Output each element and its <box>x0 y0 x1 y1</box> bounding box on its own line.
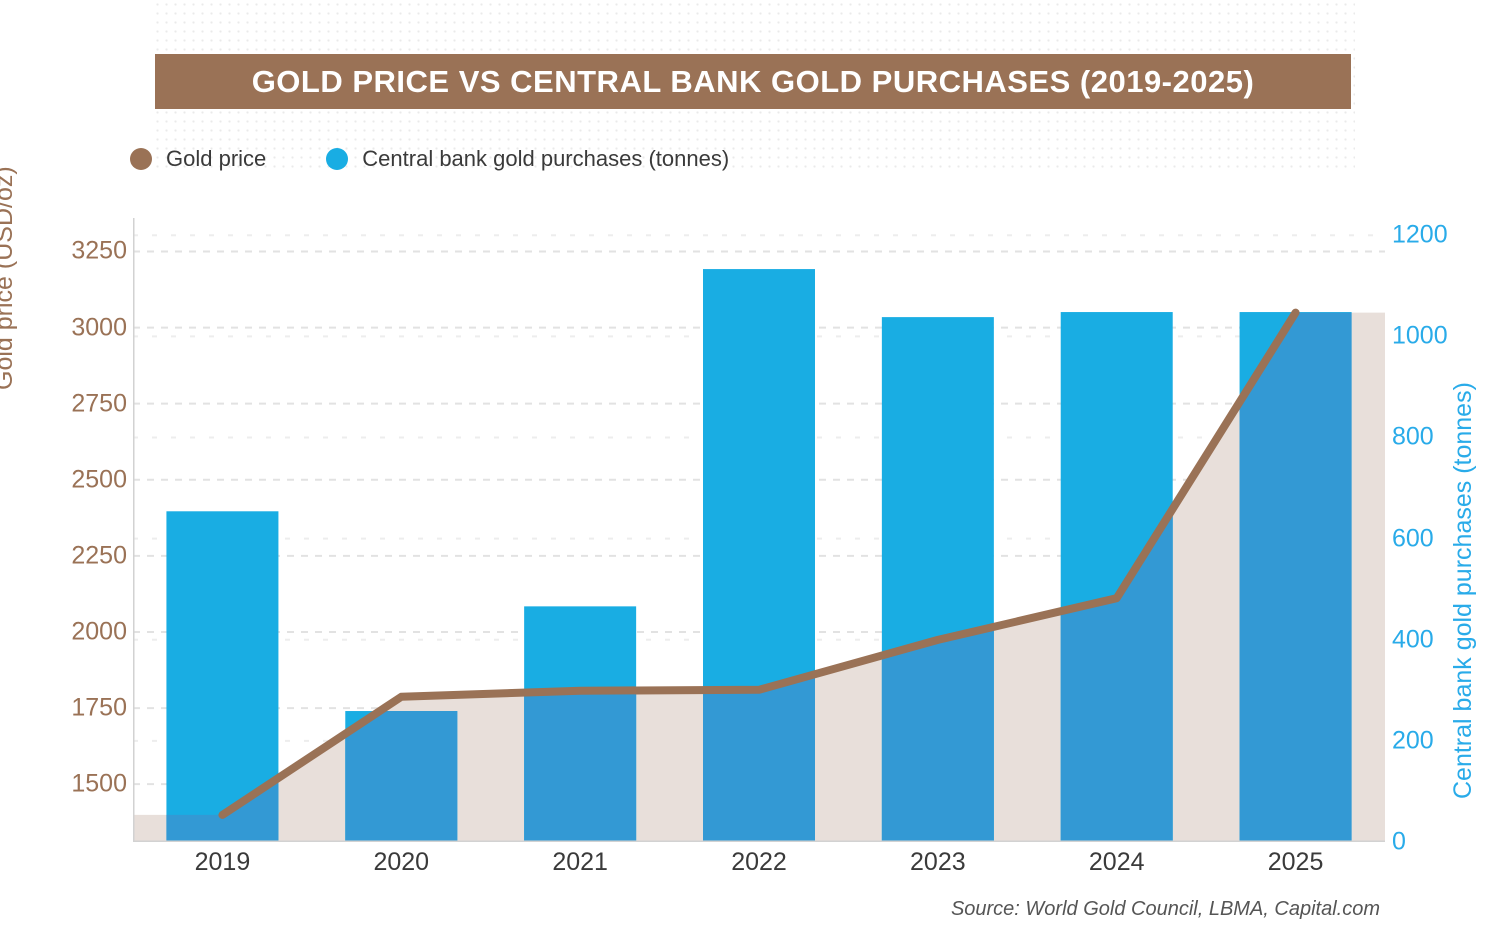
x-axis-tick-2021: 2021 <box>552 848 608 877</box>
background-white-panel-left <box>0 0 150 200</box>
x-axis-tick-2025: 2025 <box>1268 848 1324 877</box>
x-axis-tick-2023: 2023 <box>910 848 966 877</box>
x-axis-tick-2022: 2022 <box>731 848 787 877</box>
left-axis-ticks: 15001750200022502500275030003250 <box>0 218 127 842</box>
legend-item-0[interactable]: Gold price <box>130 146 266 172</box>
page-title: GOLD PRICE VS CENTRAL BANK GOLD PURCHASE… <box>252 64 1255 100</box>
legend-label: Gold price <box>166 146 266 172</box>
left-axis-tick-1500: 1500 <box>71 770 127 799</box>
source-note: Source: World Gold Council, LBMA, Capita… <box>951 898 1380 921</box>
right-axis-tick-400: 400 <box>1392 625 1434 654</box>
left-axis-tick-2750: 2750 <box>71 389 127 418</box>
right-axis-tick-600: 600 <box>1392 524 1434 553</box>
right-axis-tick-0: 0 <box>1392 828 1406 857</box>
left-axis-tick-1750: 1750 <box>71 694 127 723</box>
left-axis-title: Gold price (USD/oz) <box>0 166 19 390</box>
left-axis-tick-3000: 3000 <box>71 313 127 342</box>
x-axis-tick-2019: 2019 <box>195 848 251 877</box>
chart-legend: Gold priceCentral bank gold purchases (t… <box>130 142 789 176</box>
legend-dot-icon <box>326 148 348 170</box>
right-axis-tick-1000: 1000 <box>1392 322 1448 351</box>
background-white-panel-right <box>1355 0 1500 200</box>
right-axis-tick-800: 800 <box>1392 423 1434 452</box>
left-axis-tick-3250: 3250 <box>71 237 127 266</box>
chart-svg <box>133 218 1385 842</box>
left-axis-tick-2250: 2250 <box>71 541 127 570</box>
x-axis-ticks: 2019202020212022202320242025 <box>133 848 1385 888</box>
right-axis-tick-1200: 1200 <box>1392 221 1448 250</box>
chart-title-banner: GOLD PRICE VS CENTRAL BANK GOLD PURCHASE… <box>155 54 1351 109</box>
legend-item-1[interactable]: Central bank gold purchases (tonnes) <box>326 146 729 172</box>
left-axis-tick-2000: 2000 <box>71 617 127 646</box>
chart-plot-area <box>133 218 1385 842</box>
right-axis-title: Central bank gold purchases (tonnes) <box>1449 382 1478 799</box>
x-axis-tick-2020: 2020 <box>373 848 429 877</box>
right-axis-tick-200: 200 <box>1392 726 1434 755</box>
legend-label: Central bank gold purchases (tonnes) <box>362 146 729 172</box>
left-axis-tick-2500: 2500 <box>71 465 127 494</box>
legend-dot-icon <box>130 148 152 170</box>
x-axis-tick-2024: 2024 <box>1089 848 1145 877</box>
